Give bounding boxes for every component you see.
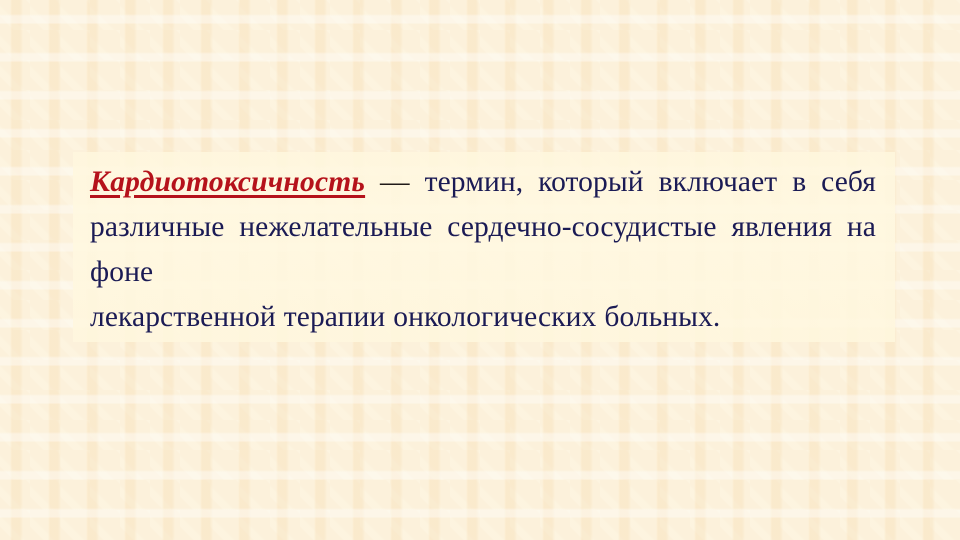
definition-line-4: лекарственной терапии онкологических бол… [90,295,876,340]
term-kardiotoksichnost: Кардиотоксичность [90,166,365,198]
em-dash: — [380,166,410,198]
definition-line-1-tail: термин, который [425,166,644,198]
slide-canvas: Кардиотоксичность — термин, который вклю… [0,0,960,540]
definition-paragraph: Кардиотоксичность — термин, который вклю… [90,160,876,385]
